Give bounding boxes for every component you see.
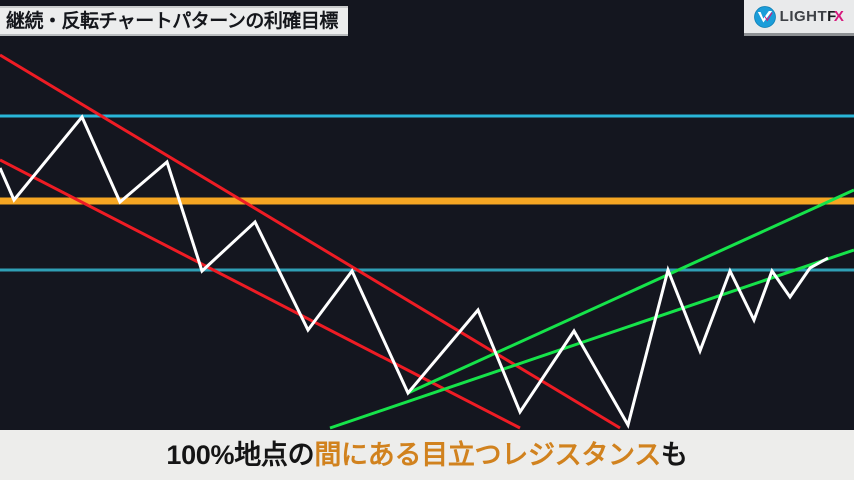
page-title: 継続・反転チャートパターンの利確目標 — [6, 12, 338, 31]
brand-logo: LIGHT F X — [744, 0, 854, 36]
caption-segment-3: も — [661, 440, 688, 470]
caption-bar: 100%地点の間にある目立つレジスタンスも — [0, 430, 854, 480]
logo-text-x: X — [834, 9, 845, 24]
caption-text: 100%地点の間にある目立つレジスタンスも — [166, 442, 687, 469]
chart-canvas — [0, 0, 854, 430]
lightfx-swoosh-icon — [754, 6, 776, 28]
caption-segment-1: 100%地点の — [166, 440, 314, 470]
caption-segment-2: 間にある目立つレジスタンス — [314, 440, 661, 470]
price-chart-svg — [0, 0, 854, 430]
slide-root: 継続・反転チャートパターンの利確目標 LIGHT F X 100%地点の間にある… — [0, 0, 854, 480]
bearish-channel-upper-line — [0, 55, 620, 428]
logo-text-light: LIGHT — [780, 9, 828, 24]
title-banner: 継続・反転チャートパターンの利確目標 — [0, 6, 348, 36]
logo-wordmark: LIGHT F X — [780, 9, 845, 24]
